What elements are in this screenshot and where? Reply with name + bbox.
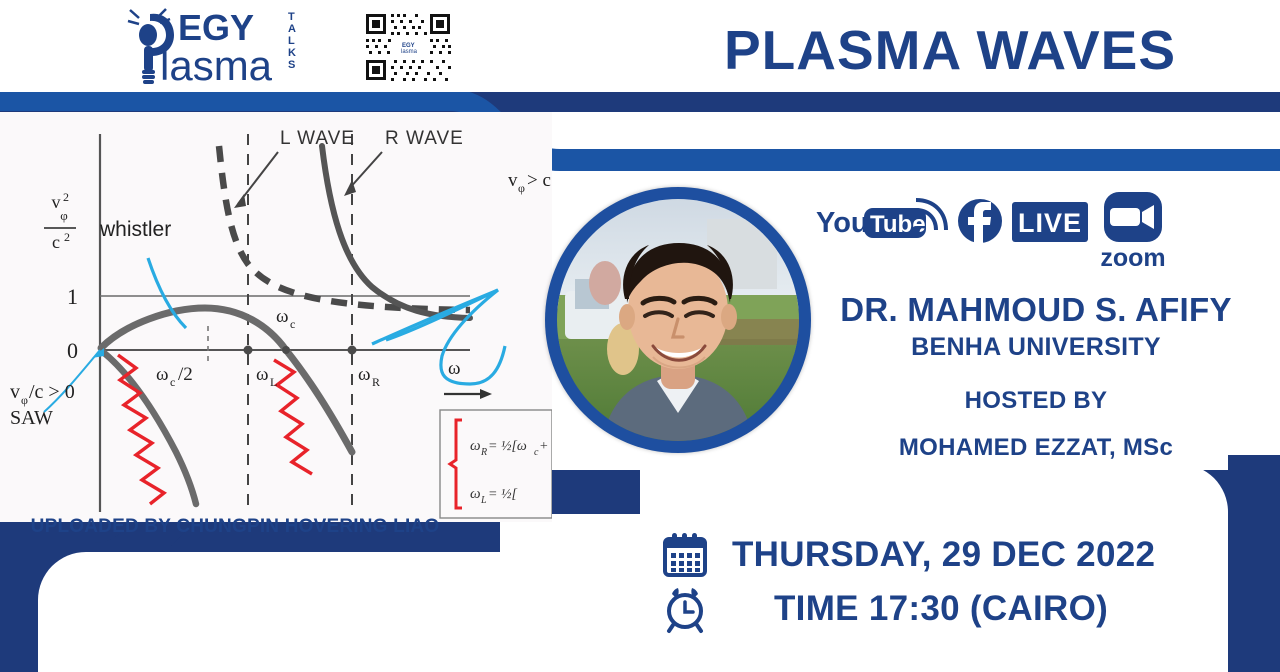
svg-text:φ: φ xyxy=(518,181,525,195)
speaker-name: DR. MAHMOUD S. AFIFY xyxy=(800,292,1272,329)
svg-text:2: 2 xyxy=(64,230,70,244)
alarm-clock-icon xyxy=(660,584,716,634)
social-icons-group: You Tube LIVE zoom xyxy=(812,190,1172,276)
svg-text:> c: > c xyxy=(527,170,551,191)
svg-text:R: R xyxy=(480,447,487,458)
social-platforms: You Tube LIVE zoom xyxy=(812,190,1172,276)
avatar-image xyxy=(557,199,799,441)
dispersion-chart-svg: 1 0 v 2 φ c 2 xyxy=(0,112,552,522)
event-time: TIME 17:30 (CAIRO) xyxy=(716,589,1108,629)
svg-text:= ½[ω: = ½[ω xyxy=(488,439,527,454)
svg-text:/2: /2 xyxy=(178,364,193,385)
svg-text:S: S xyxy=(288,59,295,71)
svg-text:lasma: lasma xyxy=(160,42,273,89)
svg-text:ω: ω xyxy=(156,364,169,385)
qr-code-icon: EGY lasma xyxy=(358,8,462,88)
svg-text:ω: ω xyxy=(470,438,481,454)
svg-text:L: L xyxy=(270,375,277,389)
time-row: TIME 17:30 (CAIRO) xyxy=(660,582,1240,636)
host-name: MOHAMED EZZAT, MSc xyxy=(800,434,1272,462)
poster-header: EGY lasma T A L K S xyxy=(0,0,1280,92)
hosted-by-label: HOSTED BY xyxy=(800,387,1272,415)
svg-text:LIVE: LIVE xyxy=(1018,208,1082,238)
calendar-icon xyxy=(660,530,716,580)
date-row: THURSDAY, 29 DEC 2022 xyxy=(660,528,1240,582)
egy-plasma-talks-logo-icon: EGY lasma T A L K S xyxy=(120,4,350,90)
svg-text:/c > 0: /c > 0 xyxy=(29,381,75,403)
svg-text:v: v xyxy=(10,381,20,403)
svg-text:K: K xyxy=(288,47,296,59)
svg-text:= ½[: = ½[ xyxy=(488,487,517,502)
svg-text:+ (ω: + (ω xyxy=(539,439,552,454)
svg-text:2: 2 xyxy=(63,190,69,204)
page-title: PLASMA WAVES xyxy=(640,18,1260,82)
live-badge: LIVE xyxy=(1012,202,1088,242)
svg-text:whistler: whistler xyxy=(99,218,171,241)
speaker-avatar xyxy=(545,187,811,453)
svg-text:L: L xyxy=(480,495,487,506)
svg-text:ω: ω xyxy=(276,306,289,327)
speaker-info: DR. MAHMOUD S. AFIFY BENHA UNIVERSITY HO… xyxy=(800,292,1272,462)
svg-text:ω: ω xyxy=(256,364,269,385)
webinar-poster: EGY lasma T A L K S xyxy=(0,0,1280,672)
speaker-affiliation: BENHA UNIVERSITY xyxy=(800,333,1272,362)
svg-text:ω: ω xyxy=(448,358,461,379)
svg-text:1: 1 xyxy=(67,284,78,309)
zoom-icon: zoom xyxy=(1100,192,1165,272)
svg-text:φ: φ xyxy=(21,393,28,407)
speaker-portrait-icon xyxy=(557,199,799,441)
svg-text:ω: ω xyxy=(358,364,371,385)
svg-text:ω: ω xyxy=(470,486,481,502)
svg-text:c: c xyxy=(52,232,60,252)
svg-text:φ: φ xyxy=(60,208,68,223)
brand-logo: EGY lasma T A L K S xyxy=(120,4,350,90)
svg-text:R WAVE: R WAVE xyxy=(385,128,464,149)
qr-code[interactable]: EGY lasma xyxy=(358,8,462,88)
svg-text:c: c xyxy=(170,375,175,389)
svg-text:SAW: SAW xyxy=(10,407,53,429)
svg-text:T: T xyxy=(288,11,295,23)
schedule-info: THURSDAY, 29 DEC 2022 TIME 17:30 (CAIRO) xyxy=(660,528,1240,636)
svg-text:v: v xyxy=(508,170,518,191)
dispersion-diagram: 1 0 v 2 φ c 2 xyxy=(0,112,552,522)
uploader-credit: UPLOADED BY CHUNGPIN HOVERING LIAO xyxy=(0,516,470,538)
svg-text:0: 0 xyxy=(67,338,78,363)
youtube-icon: You Tube xyxy=(816,200,946,239)
facebook-icon xyxy=(958,199,1002,243)
svg-text:L: L xyxy=(288,35,295,47)
svg-text:c: c xyxy=(290,317,295,331)
svg-text:R: R xyxy=(372,375,380,389)
svg-text:lasma: lasma xyxy=(401,49,418,55)
svg-text:Tube: Tube xyxy=(870,211,926,238)
svg-text:You: You xyxy=(816,207,869,239)
svg-text:L WAVE: L WAVE xyxy=(280,128,355,149)
svg-text:v: v xyxy=(52,192,61,212)
svg-text:zoom: zoom xyxy=(1100,244,1165,272)
event-date: THURSDAY, 29 DEC 2022 xyxy=(716,535,1155,575)
svg-text:A: A xyxy=(288,23,296,35)
